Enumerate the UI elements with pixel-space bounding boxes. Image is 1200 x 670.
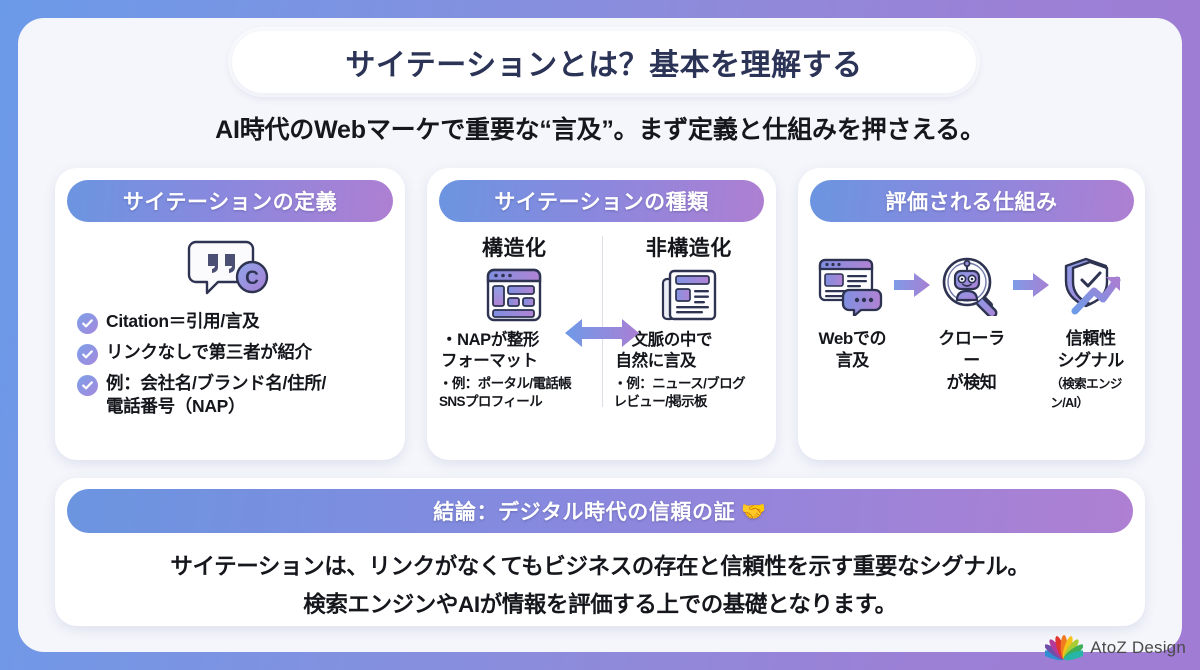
flow-step-label: クローラー が検知	[931, 328, 1012, 394]
rainbow-fan-icon	[1045, 632, 1083, 664]
card-row: サイテーションの定義 C	[55, 168, 1145, 460]
list-item: Citation＝引用/言及	[77, 310, 387, 334]
conclusion-line-2: 検索エンジンやAIが情報を評価する上での基礎となります。	[303, 587, 896, 619]
page-title: サイテーションとは？基本を理解する	[232, 31, 976, 93]
svg-text:C: C	[245, 268, 259, 289]
mechanism-flow: Webでの 言及	[798, 254, 1145, 411]
card-definition-heading: サイテーションの定義	[67, 180, 393, 222]
conclusion-card: 結論：デジタル時代の信頼の証 🤝 サイテーションは、リンクがなくてもビジネスの存…	[55, 478, 1145, 626]
card-types: サイテーションの種類 構造化	[427, 168, 776, 460]
trust-shield-icon	[1056, 254, 1126, 316]
flow-step-web-mention: Webでの 言及	[812, 254, 893, 372]
list-item-label: リンクなしで第三者が紹介	[106, 341, 312, 364]
conclusion-line-1: サイテーションは、リンクがなくてもビジネスの存在と信頼性を示す重要なシグナル。	[170, 549, 1029, 581]
check-circle-icon	[77, 375, 98, 396]
list-item-label: 例：会社名/ブランド名/住所/ 電話番号（NAP）	[106, 372, 326, 419]
card-mechanism: 評価される仕組み	[798, 168, 1145, 460]
news-article-icon	[660, 266, 718, 324]
web-mention-icon	[817, 254, 887, 316]
crawler-robot-icon	[939, 254, 1005, 316]
page-title-text: サイテーションとは？基本を理解する	[345, 40, 862, 84]
flow-step-sublabel: （検索エンジン/AI）	[1050, 373, 1131, 411]
column-label: 非構造化	[646, 232, 732, 262]
double-arrow-icon	[563, 316, 641, 355]
arrow-right-icon	[893, 254, 932, 316]
arrow-right-icon	[1012, 254, 1051, 316]
flow-step-label: Webでの 言及	[819, 328, 887, 372]
brand-name: AtoZ Design	[1090, 638, 1186, 658]
card-types-heading: サイテーションの種類	[439, 180, 764, 222]
page-subtitle: AI時代のWebマーケで重要な“言及”。まず定義と仕組みを押さえる。	[0, 110, 1200, 146]
card-definition: サイテーションの定義 C	[55, 168, 405, 460]
conclusion-heading-text: 結論：デジタル時代の信頼の証	[433, 496, 735, 526]
list-item: 例：会社名/ブランド名/住所/ 電話番号（NAP）	[77, 372, 387, 419]
flow-step-trust-signal: 信頼性 シグナル （検索エンジン/AI）	[1050, 254, 1131, 411]
list-item: リンクなしで第三者が紹介	[77, 341, 387, 365]
flow-step-label: 信頼性 シグナル	[1057, 328, 1123, 372]
brand-logo: AtoZ Design	[1045, 632, 1186, 664]
column-label: 構造化	[482, 232, 547, 262]
list-item-label: Citation＝引用/言及	[106, 310, 259, 333]
flow-step-crawler: クローラー が検知	[931, 254, 1012, 394]
definition-bullet-list: Citation＝引用/言及 リンクなしで第三者が紹介 例：会社名/ブランド名/…	[55, 310, 405, 426]
card-mechanism-heading: 評価される仕組み	[810, 180, 1134, 222]
column-example: ・例：ニュース/ブログ レビュー/掲示板	[602, 375, 777, 411]
types-columns: 構造化	[427, 232, 776, 411]
slide-root: サイテーションとは？基本を理解する AI時代のWebマーケで重要な“言及”。まず…	[0, 0, 1200, 670]
check-circle-icon	[77, 313, 98, 334]
check-circle-icon	[77, 344, 98, 365]
quote-bubble-copyright-icon: C	[186, 236, 274, 302]
conclusion-heading: 結論：デジタル時代の信頼の証 🤝	[67, 489, 1133, 533]
handshake-icon: 🤝	[741, 499, 767, 524]
column-example: ・例：ポータル/電話帳 SNSプロフィール	[427, 375, 602, 411]
browser-window-icon	[485, 266, 543, 324]
